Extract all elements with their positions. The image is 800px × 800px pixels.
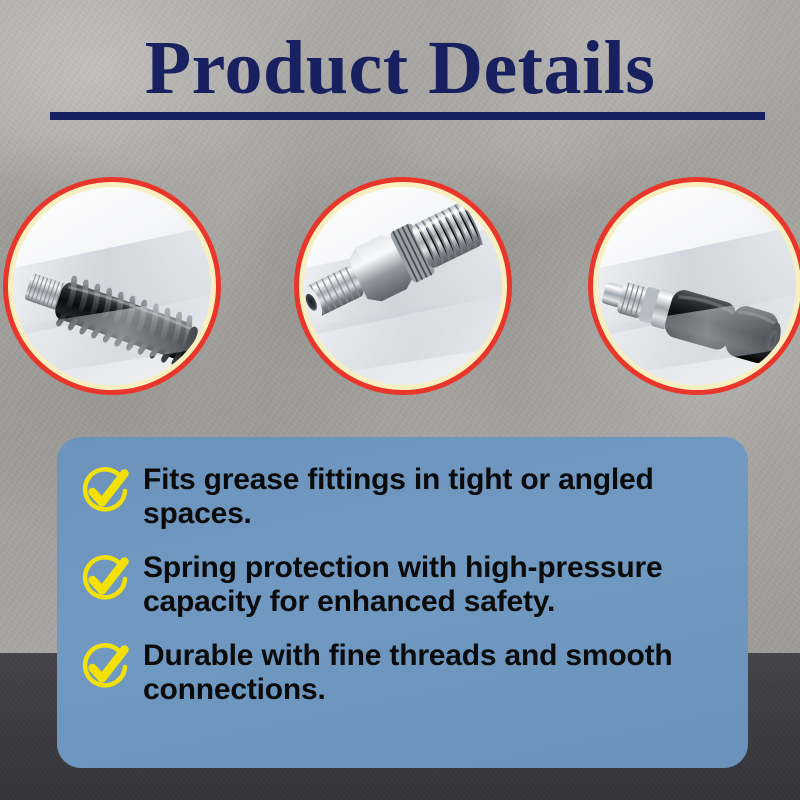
feature-item: Fits grease fittings in tight or angled … [79,463,720,531]
product-image-circle-3-inner [598,187,796,385]
feature-item-label: Durable with fine threads and smooth con… [143,639,703,707]
grease-coupler-icon [598,260,791,376]
product-image-circle-1-inner [13,187,211,385]
check-circle-icon [79,641,131,693]
features-panel: Fits grease fittings in tight or angled … [57,437,748,768]
page-title: Product Details [0,28,800,108]
product-image-circle-3 [588,177,800,395]
feature-item-label: Spring protection with high-pressure cap… [143,551,703,619]
check-circle-icon [79,465,131,517]
feature-item: Spring protection with high-pressure cap… [79,551,720,619]
page-title-container: Product Details [0,28,800,108]
product-image-circle-2 [294,177,512,395]
product-image-circle-2-inner [304,187,502,385]
check-circle-icon [79,553,131,605]
product-details-card: Product Details [0,0,800,800]
product-image-circle-1 [3,177,221,395]
features-list: Fits grease fittings in tight or angled … [79,463,720,748]
threaded-fitting-icon [304,187,496,346]
spring-hose-icon [13,250,208,385]
title-underline-bar [50,112,765,120]
feature-item: Durable with fine threads and smooth con… [79,639,720,707]
feature-item-label: Fits grease fittings in tight or angled … [143,463,703,531]
